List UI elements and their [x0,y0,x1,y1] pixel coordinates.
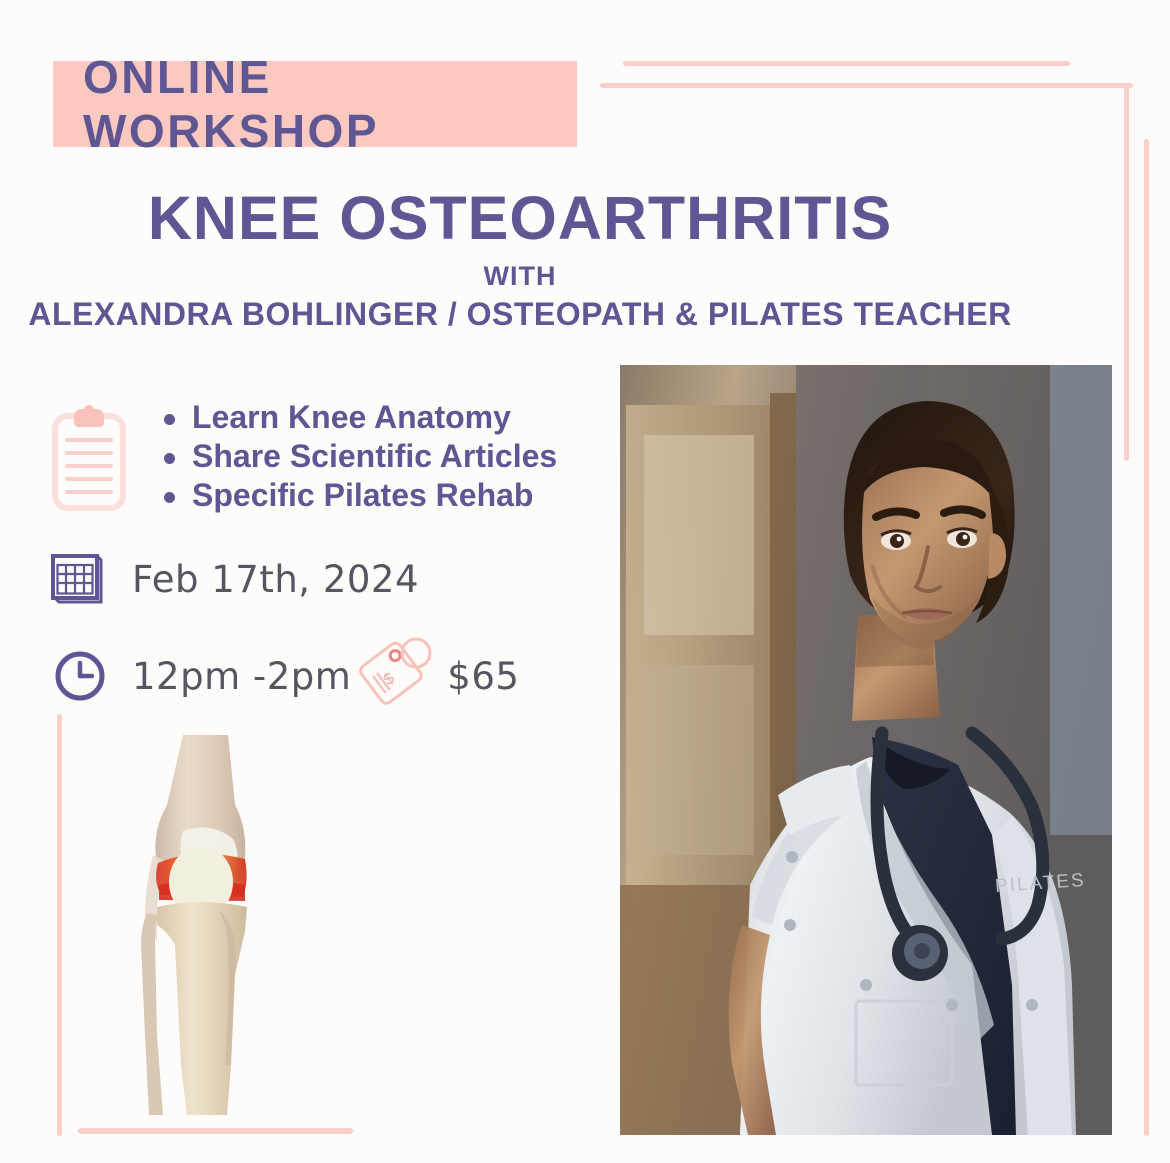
clock-icon [54,650,106,702]
portrait-illustration [620,365,1112,1135]
date-row: Feb 17th, 2024 [50,552,419,606]
page-title: KNEE OSTEOARTHRITIS [0,186,1040,250]
workshop-price: $65 [447,655,519,698]
decorative-bracket-vertical [1124,83,1129,461]
workshop-date: Feb 17th, 2024 [132,558,419,601]
with-label: WITH [0,261,1040,292]
list-item: Specific Pilates Rehab [162,476,557,515]
price-tag-icon: $ [359,637,435,709]
presenter-photo: PILATES [620,365,1112,1135]
clipboard-icon [52,402,126,512]
topic-list: Learn Knee Anatomy Share Scientific Arti… [126,398,557,515]
workshop-poster: ONLINE WORKSHOP KNEE OSTEOARTHRITIS WITH… [0,0,1170,1163]
knee-anatomy-illustration [95,735,325,1115]
calendar-icon [50,552,104,606]
decorative-bracket-horizontal [600,83,1133,88]
banner-label: ONLINE WORKSHOP [53,50,577,158]
presenter-subtitle: ALEXANDRA BOHLINGER / OSTEOPATH & PILATE… [0,296,1040,333]
decorative-line-top [623,61,1070,66]
online-workshop-banner: ONLINE WORKSHOP [53,61,577,147]
workshop-time: 12pm -2pm [132,655,351,698]
list-item: Learn Knee Anatomy [162,398,557,437]
decorative-line-left [57,714,62,1136]
knee-anatomy-figure: Arthritis [95,735,425,1115]
list-item: Share Scientific Articles [162,437,557,476]
decorative-line-right [1144,139,1149,1136]
workshop-topics: Learn Knee Anatomy Share Scientific Arti… [52,398,557,515]
decorative-line-bottom [78,1128,353,1134]
time-price-row: 12pm -2pm $ $65 [54,643,519,709]
